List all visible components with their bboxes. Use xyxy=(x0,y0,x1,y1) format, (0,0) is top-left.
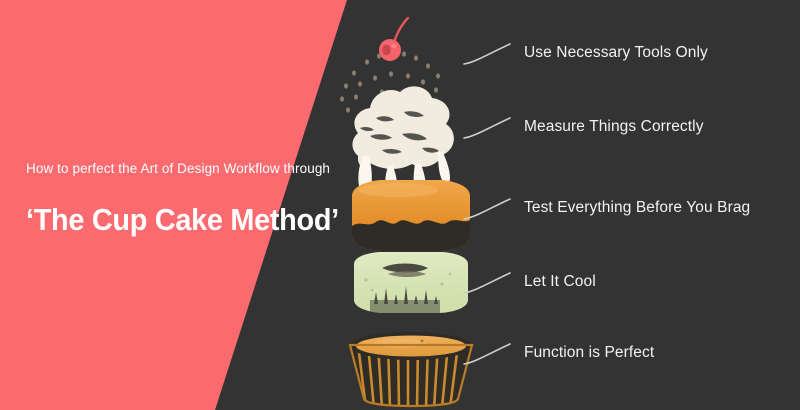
callout-label: Use Necessary Tools Only xyxy=(524,43,708,63)
curve-connector-icon xyxy=(462,40,512,66)
callout-label: Measure Things Correctly xyxy=(524,117,704,137)
curve-connector-icon xyxy=(462,340,512,366)
subtitle-text: How to perfect the Art of Design Workflo… xyxy=(26,160,356,178)
curve-connector-icon xyxy=(462,269,512,295)
curve-connector-icon xyxy=(462,195,512,221)
callout-item[interactable]: Measure Things Correctly xyxy=(462,110,704,144)
curve-connector-icon xyxy=(462,114,512,140)
page-title: ‘The Cup Cake Method’ xyxy=(26,200,333,240)
callout-item[interactable]: Function is Perfect xyxy=(462,336,654,370)
callout-item[interactable]: Test Everything Before You Brag xyxy=(462,191,750,225)
callout-label: Test Everything Before You Brag xyxy=(524,198,750,218)
callout-label: Function is Perfect xyxy=(524,343,654,363)
green-cake-layer xyxy=(354,252,468,313)
callout-list: Use Necessary Tools Only Measure Things … xyxy=(462,0,800,410)
callout-item[interactable]: Use Necessary Tools Only xyxy=(462,36,708,70)
callout-item[interactable]: Let It Cool xyxy=(462,265,596,299)
cupcake-wrapper-base xyxy=(350,332,472,408)
orange-cake-layer xyxy=(352,180,470,252)
callout-label: Let It Cool xyxy=(524,272,596,292)
headline-block: How to perfect the Art of Design Workflo… xyxy=(26,160,356,240)
infographic-poster: How to perfect the Art of Design Workflo… xyxy=(0,0,800,410)
